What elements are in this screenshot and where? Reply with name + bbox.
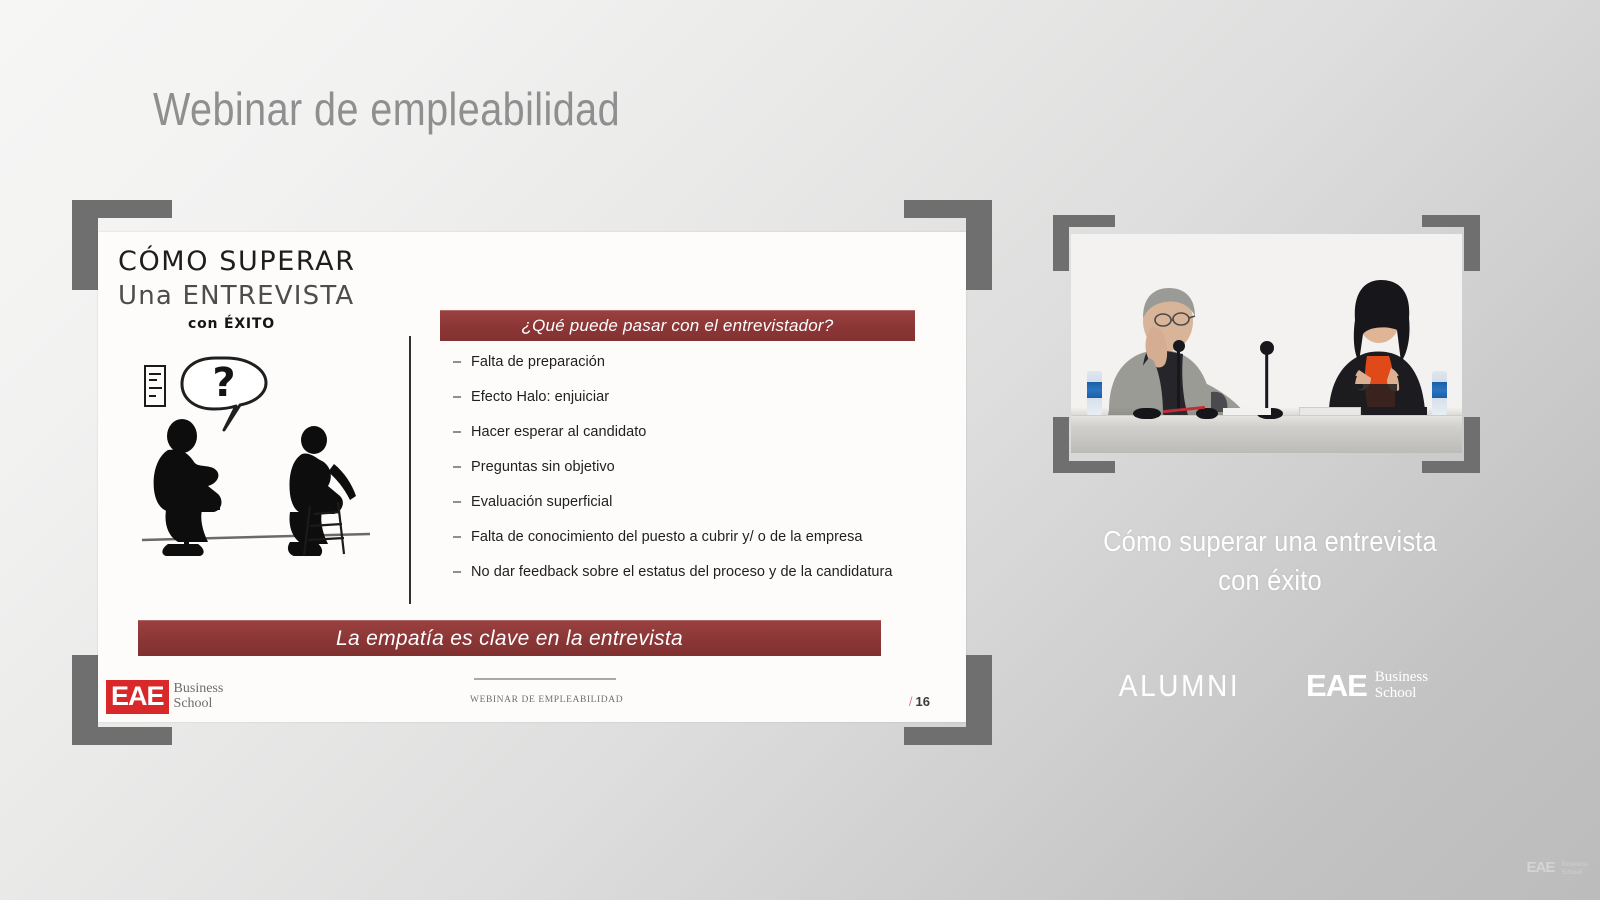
eae-watermark-subtitle-line2: School bbox=[1561, 867, 1582, 876]
eae-brand-logo: EAE Business School bbox=[1303, 668, 1428, 704]
eae-logo-subtitle: Business School bbox=[174, 682, 224, 711]
eae-brand-logo-subtitle-line2: School bbox=[1375, 685, 1417, 701]
list-item: – Hacer esperar al candidato bbox=[453, 424, 953, 459]
eae-brand-logo-subtitle-line1: Business bbox=[1375, 669, 1428, 685]
slide-title-line2: Una ENTREVISTA bbox=[118, 281, 354, 311]
page-number-slash: / bbox=[909, 694, 913, 709]
slide-footer-label: WEBINAR DE EMPLEABILIDAD bbox=[470, 695, 623, 705]
bracket-bottom-right-vertical bbox=[966, 655, 992, 745]
papers bbox=[1223, 408, 1271, 415]
list-item: – Falta de conocimiento del puesto a cub… bbox=[453, 529, 953, 564]
video-caption-line1: Cómo superar una entrevista bbox=[1085, 523, 1455, 562]
branding-row: ALUMNI EAE Business School bbox=[1060, 668, 1480, 704]
list-item-text: Efecto Halo: enjuiciar bbox=[471, 389, 609, 405]
bullet-dash: – bbox=[453, 389, 471, 405]
eae-logo-mark: EAE bbox=[106, 680, 169, 714]
list-item: – Evaluación superficial bbox=[453, 494, 953, 529]
bracket-top-right-vertical bbox=[966, 200, 992, 290]
bullet-dash: – bbox=[453, 354, 471, 370]
eae-brand-logo-subtitle: Business School bbox=[1375, 670, 1428, 701]
list-item: – Preguntas sin objetivo bbox=[453, 459, 953, 494]
emphasis-banner-text: La empatía es clave en la entrevista bbox=[336, 627, 683, 651]
conference-table bbox=[1071, 415, 1462, 453]
water-bottle-left bbox=[1087, 371, 1102, 415]
mic-base-mid bbox=[1196, 408, 1218, 419]
bullet-dash: – bbox=[453, 459, 471, 475]
list-item: – No dar feedback sobre el estatus del p… bbox=[453, 564, 953, 599]
question-banner-text: ¿Qué puede pasar con el entrevistador? bbox=[522, 316, 834, 336]
dark-device bbox=[1363, 407, 1427, 415]
slide-title-line3: con ÉXITO bbox=[188, 316, 275, 332]
video-caption-line2: con éxito bbox=[1085, 562, 1455, 601]
video-bracket-top-left-vertical bbox=[1053, 215, 1069, 271]
bullet-dash: – bbox=[453, 494, 471, 510]
mic-base-left bbox=[1133, 408, 1161, 419]
video-still[interactable] bbox=[1071, 234, 1462, 453]
video-bracket-top-right-vertical bbox=[1464, 215, 1480, 271]
bracket-top-left-vertical bbox=[72, 200, 98, 290]
slide-content: CÓMO SUPERAR Una ENTREVISTA con ÉXITO ? bbox=[98, 232, 966, 722]
eae-logo: EAE Business School bbox=[106, 680, 223, 714]
list-item-text: Evaluación superficial bbox=[471, 494, 612, 510]
alumni-logo: ALUMNI bbox=[1119, 668, 1241, 704]
list-item: – Efecto Halo: enjuiciar bbox=[453, 389, 953, 424]
slide-footer-center: WEBINAR DE EMPLEABILIDAD bbox=[470, 678, 620, 707]
eae-brand-logo-mark: EAE bbox=[1303, 668, 1370, 704]
eae-logo-subtitle-line2: School bbox=[174, 696, 213, 711]
interview-illustration-icon: ? bbox=[138, 344, 373, 559]
eae-logo-subtitle-line1: Business bbox=[174, 681, 224, 696]
eae-watermark-mark: EAE bbox=[1524, 859, 1556, 876]
list-item-text: Hacer esperar al candidato bbox=[471, 424, 646, 440]
question-banner: ¿Qué puede pasar con el entrevistador? bbox=[440, 310, 915, 341]
list-item-text: Falta de conocimiento del puesto a cubri… bbox=[471, 529, 863, 545]
slide-title-line1: CÓMO SUPERAR bbox=[118, 246, 356, 277]
video-bracket-bottom-left-vertical bbox=[1053, 417, 1069, 473]
video-panel[interactable] bbox=[1053, 215, 1480, 473]
bullet-dash: – bbox=[453, 564, 471, 580]
vertical-divider bbox=[409, 336, 411, 604]
emphasis-banner: La empatía es clave en la entrevista bbox=[138, 620, 881, 656]
eae-watermark: EAE Business School bbox=[1524, 859, 1588, 876]
footer-rule bbox=[474, 678, 616, 680]
list-item-text: Preguntas sin objetivo bbox=[471, 459, 615, 475]
video-bracket-bottom-right-vertical bbox=[1464, 417, 1480, 473]
list-item-text: No dar feedback sobre el estatus del pro… bbox=[471, 564, 893, 580]
water-bottle-right bbox=[1432, 371, 1447, 415]
page-title: Webinar de empleabilidad bbox=[153, 82, 620, 136]
list-item-text: Falta de preparación bbox=[471, 354, 605, 370]
video-caption: Cómo superar una entrevista con éxito bbox=[1085, 523, 1455, 600]
presentation-stage: Webinar de empleabilidad CÓMO SUPERAR Un… bbox=[0, 0, 1600, 900]
slide-footer: EAE Business School WEBINAR DE EMPLEABIL… bbox=[98, 672, 966, 722]
list-item: – Falta de preparación bbox=[453, 354, 953, 389]
bullet-dash: – bbox=[453, 424, 471, 440]
page-number-value: 16 bbox=[916, 694, 930, 709]
svg-text:?: ? bbox=[212, 360, 235, 406]
tablet bbox=[1299, 407, 1361, 416]
bracket-bottom-left-vertical bbox=[72, 655, 98, 745]
bullet-list: – Falta de preparación – Efecto Halo: en… bbox=[453, 354, 953, 599]
slide-panel[interactable]: CÓMO SUPERAR Una ENTREVISTA con ÉXITO ? bbox=[72, 200, 992, 745]
slide-page-number: /16 bbox=[909, 694, 930, 709]
eae-watermark-subtitle: Business School bbox=[1561, 860, 1588, 876]
bullet-dash: – bbox=[453, 529, 471, 545]
